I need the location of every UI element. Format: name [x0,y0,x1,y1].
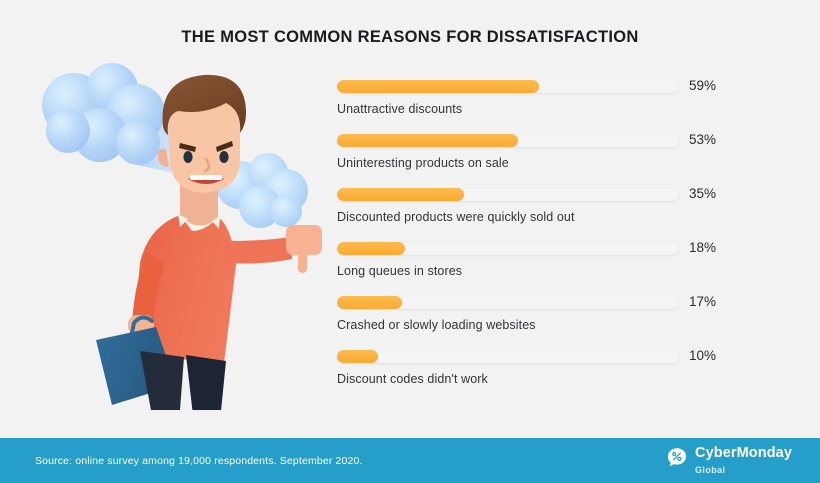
chart-row: 53% Uninteresting products on sale [337,134,727,188]
bar-fill [337,80,539,93]
bar-track [337,242,679,255]
bar-fill [337,296,402,309]
source-note: Source: online survey among 19,000 respo… [35,455,363,467]
angry-shopper-illustration [28,55,328,410]
bar-value: 17% [689,294,716,309]
steam-cloud-left [42,63,165,165]
bar-value: 53% [689,132,716,147]
bar-label: Crashed or slowly loading websites [337,318,727,332]
chart-row: 18% Long queues in stores [337,242,727,296]
bar-label: Unattractive discounts [337,102,727,116]
chart-row: 59% Unattractive discounts [337,80,727,134]
logo-subtitle: Global [695,465,725,475]
logo-name: CyberMonday [695,445,792,461]
bar-fill [337,350,378,363]
legs [140,351,226,410]
bar-value: 18% [689,240,716,255]
bar-fill [337,188,464,201]
bar-value: 10% [689,348,716,363]
bar-fill [337,242,405,255]
bar-label: Long queues in stores [337,264,727,278]
bar-label: Uninteresting products on sale [337,156,727,170]
page-title: THE MOST COMMON REASONS FOR DISSATISFACT… [0,28,820,47]
bar-value: 59% [689,78,716,93]
brand-logo: CyberMonday Global [666,445,792,477]
bar-track [337,134,679,147]
head [158,75,246,193]
chart-row: 35% Discounted products were quickly sol… [337,188,727,242]
bar-fill [337,134,518,147]
percent-speech-bubble-icon [666,447,688,474]
thumbs-down-hand [286,225,322,273]
footer-bar: Source: online survey among 19,000 respo… [0,438,820,483]
bar-label: Discounted products were quickly sold ou… [337,210,727,224]
bar-track [337,350,679,363]
chart-row: 10% Discount codes didn't work [337,350,727,404]
bar-label: Discount codes didn't work [337,372,727,386]
logo-text: CyberMonday Global [695,445,792,477]
chart-row: 17% Crashed or slowly loading websites [337,296,727,350]
reasons-bar-chart: 59% Unattractive discounts 53% Uninteres… [337,80,727,404]
bar-track [337,80,679,93]
bar-value: 35% [689,186,716,201]
bar-track [337,296,679,309]
bar-track [337,188,679,201]
